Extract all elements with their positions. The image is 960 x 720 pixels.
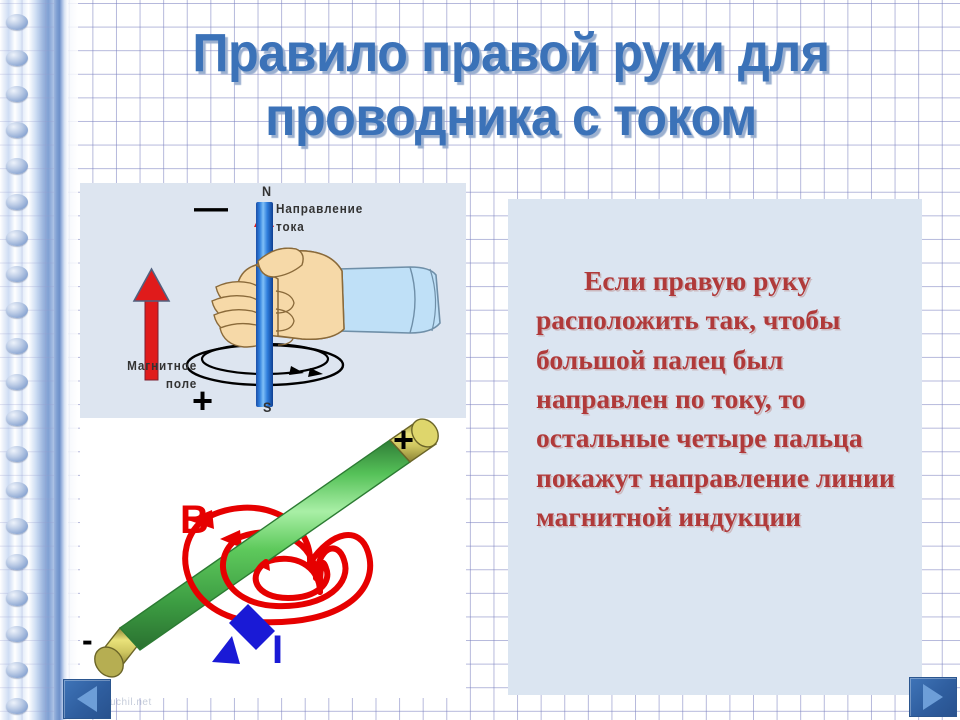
explanation-text: Если правую руку расположить так, чтобы … (536, 261, 896, 536)
binding-ring-icon (6, 230, 28, 246)
label-magnetic-field: Магнитное поле (82, 357, 197, 392)
label-current-I: I (272, 630, 283, 670)
binding-ring-icon (6, 122, 28, 138)
slide-canvas: Правило правой руки для проводника с ток… (0, 0, 960, 720)
terminal-negative-sign: - (82, 624, 93, 656)
binding-ring-icon (6, 374, 28, 390)
label-pole-south: S (263, 399, 272, 415)
triangle-right-icon (923, 684, 943, 710)
binding-ring-icon (6, 194, 28, 210)
triangle-left-icon (77, 686, 97, 712)
label-pole-north: N (262, 183, 272, 199)
binding-ring-icon (6, 590, 28, 606)
page-title: Правило правой руки для проводника с ток… (125, 22, 897, 149)
figure-conductor-field-lines: B I + - (80, 418, 466, 698)
terminal-positive-sign: + (192, 383, 213, 418)
binding-ring-icon (6, 446, 28, 462)
binding-ring-icon (6, 338, 28, 354)
previous-slide-button[interactable] (63, 679, 111, 719)
watermark-text: uchil.net (110, 697, 152, 708)
binding-ring-icon (6, 302, 28, 318)
binding-ring-icon (6, 662, 28, 678)
binding-ring-icon (6, 14, 28, 30)
next-slide-button[interactable] (909, 677, 957, 717)
binding-grid-overlay (0, 0, 62, 720)
binding-ring-icon (6, 410, 28, 426)
label-current-direction: Направление тока (276, 200, 363, 235)
label-magnetic-induction-B: B (180, 500, 209, 540)
binding-ring-icon (6, 266, 28, 282)
terminal-negative-sign: — (194, 191, 228, 225)
binding-spine-highlight (68, 0, 78, 720)
binding-ring-icon (6, 518, 28, 534)
binding-ring-icon (6, 50, 28, 66)
binding-ring-icon (6, 626, 28, 642)
binding-ring-icon (6, 554, 28, 570)
binding-spine (54, 0, 68, 720)
binding-ring-icon (6, 698, 28, 714)
conductor-rod-blue (256, 202, 273, 407)
notebook-binding-decoration (0, 0, 62, 720)
binding-ring-icon (6, 158, 28, 174)
binding-ring-icon (6, 482, 28, 498)
terminal-positive-sign: + (393, 422, 414, 458)
figure-hand-gripping-conductor: N S Направление тока Магнитное поле — + (80, 183, 466, 418)
explanation-text-panel: Если правую руку расположить так, чтобы … (508, 199, 922, 695)
binding-ring-icon (6, 86, 28, 102)
conductor-rod-green (89, 418, 444, 683)
